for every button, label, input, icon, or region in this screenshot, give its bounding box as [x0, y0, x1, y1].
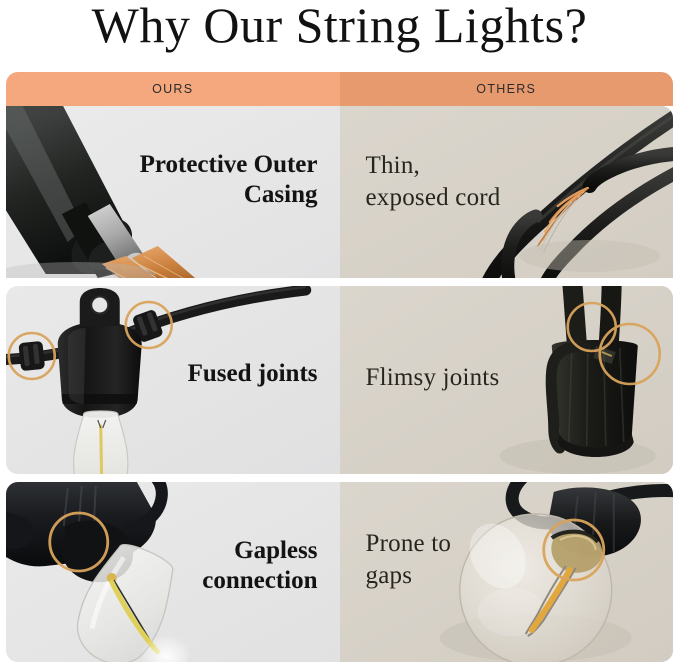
cell-others-flimsy-joints: Flimsy joints — [340, 286, 674, 474]
table-header-row: OURS OTHERS — [6, 72, 673, 106]
caption-ours-gapless-connection: Gapless connection — [202, 536, 317, 596]
column-header-others: OTHERS — [340, 72, 674, 106]
column-header-ours: OURS — [6, 72, 340, 106]
infographic-page: Why Our String Lights? OURS OTHERS — [0, 0, 679, 656]
annotation-ring — [567, 303, 615, 351]
caption-ours-fused-joints: Fused joints — [188, 359, 318, 389]
annotation-ring — [50, 513, 108, 571]
comparison-table: OURS OTHERS — [6, 72, 673, 662]
table-row: Protective Outer Casing — [6, 106, 673, 278]
annotation-ring — [543, 520, 603, 580]
caption-others-thin-cord: Thin, exposed cord — [366, 150, 501, 214]
annotation-ring — [9, 333, 55, 379]
annotation-ring — [126, 302, 172, 348]
page-title: Why Our String Lights? — [0, 0, 679, 54]
caption-ours-protective-casing: Protective Outer Casing — [140, 150, 318, 210]
caption-others-prone-to-gaps: Prone to gaps — [366, 528, 452, 592]
cell-others-prone-to-gaps: Prone to gaps — [340, 482, 674, 662]
annotation-ring — [599, 324, 659, 384]
caption-others-flimsy-joints: Flimsy joints — [366, 362, 500, 394]
cell-ours-protective-casing: Protective Outer Casing — [6, 106, 340, 278]
table-row: Gapless connection — [6, 482, 673, 662]
cell-ours-gapless-connection: Gapless connection — [6, 482, 340, 662]
table-row: Fused joints — [6, 286, 673, 474]
cell-ours-fused-joints: Fused joints — [6, 286, 340, 474]
cell-others-thin-cord: Thin, exposed cord — [340, 106, 674, 278]
